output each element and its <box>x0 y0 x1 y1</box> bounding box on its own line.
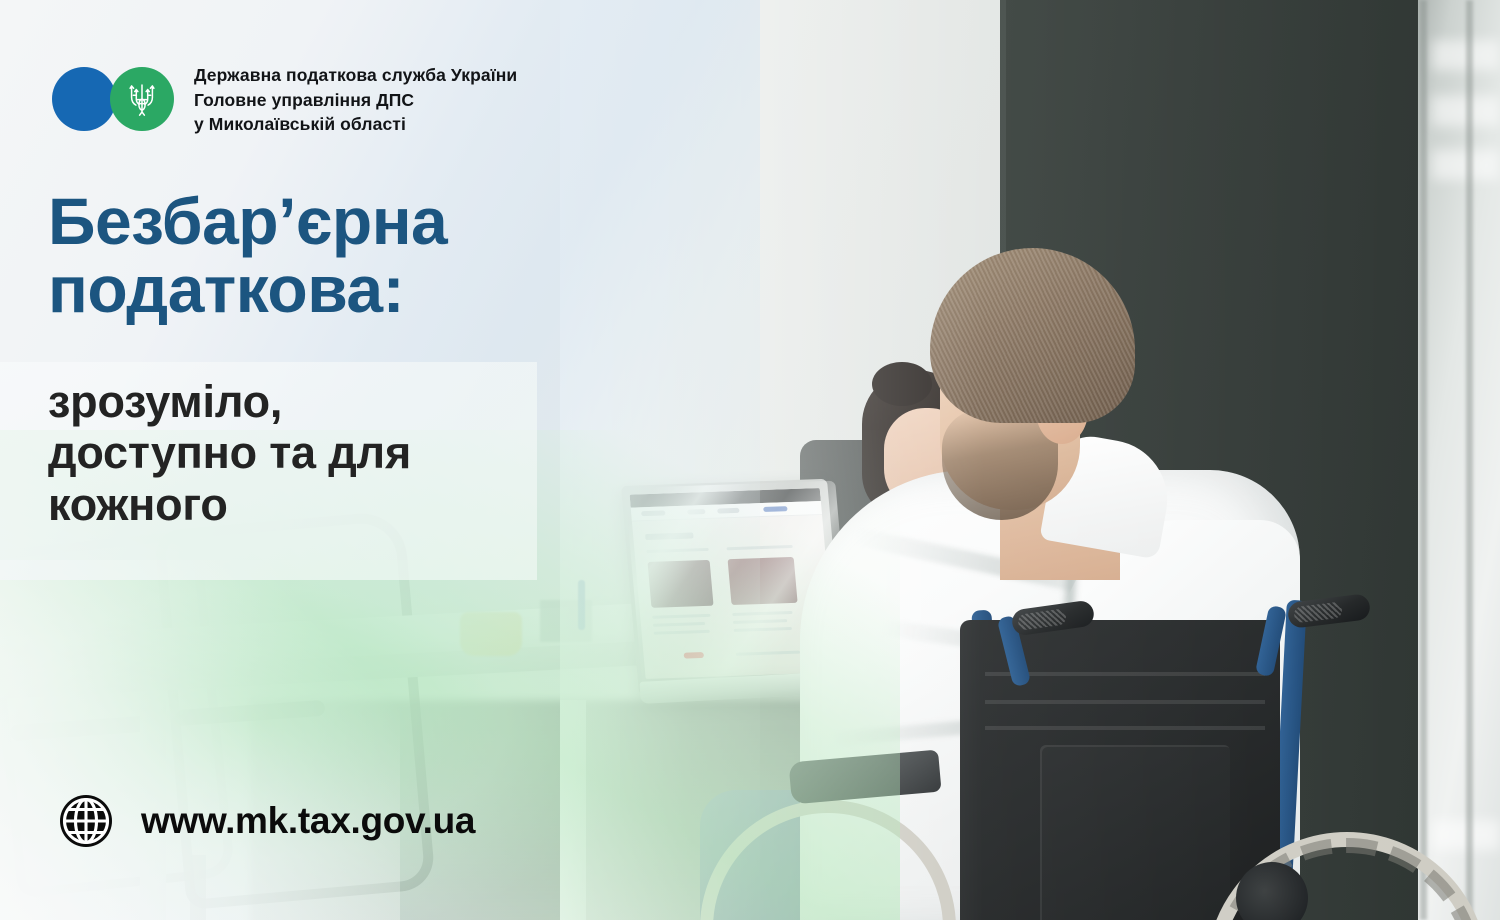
website-row[interactable]: www.mk.tax.gov.ua <box>58 793 475 849</box>
logo-marks <box>52 67 172 131</box>
subtitle-line-3: кожного <box>48 479 411 530</box>
subtitle-line-2: доступно та для <box>48 427 411 478</box>
headline-line-2: податкова: <box>48 256 447 324</box>
ukraine-trident-icon <box>128 81 156 117</box>
bottom-left-white-wash <box>0 560 400 920</box>
logo-green-circle <box>110 67 174 131</box>
subtitle-line-1: зрозуміло, <box>48 376 411 427</box>
promo-banner: Державна податкова служба України Головн… <box>0 0 1500 920</box>
headline-line-1: Безбар’єрна <box>48 188 447 256</box>
org-line-2a: Головне управління ДПС <box>194 88 517 112</box>
subtitle: зрозуміло, доступно та для кожного <box>48 376 411 530</box>
logo-blue-circle <box>52 67 116 131</box>
globe-icon <box>58 793 114 849</box>
headline: Безбар’єрна податкова: <box>48 188 447 324</box>
organization-logo: Державна податкова служба України Головн… <box>52 62 517 137</box>
org-line-2b: у Миколаївській області <box>194 112 517 136</box>
org-line-1: Державна податкова служба України <box>194 62 517 88</box>
website-url[interactable]: www.mk.tax.gov.ua <box>141 800 475 842</box>
organization-name: Державна податкова служба України Головн… <box>194 62 517 137</box>
